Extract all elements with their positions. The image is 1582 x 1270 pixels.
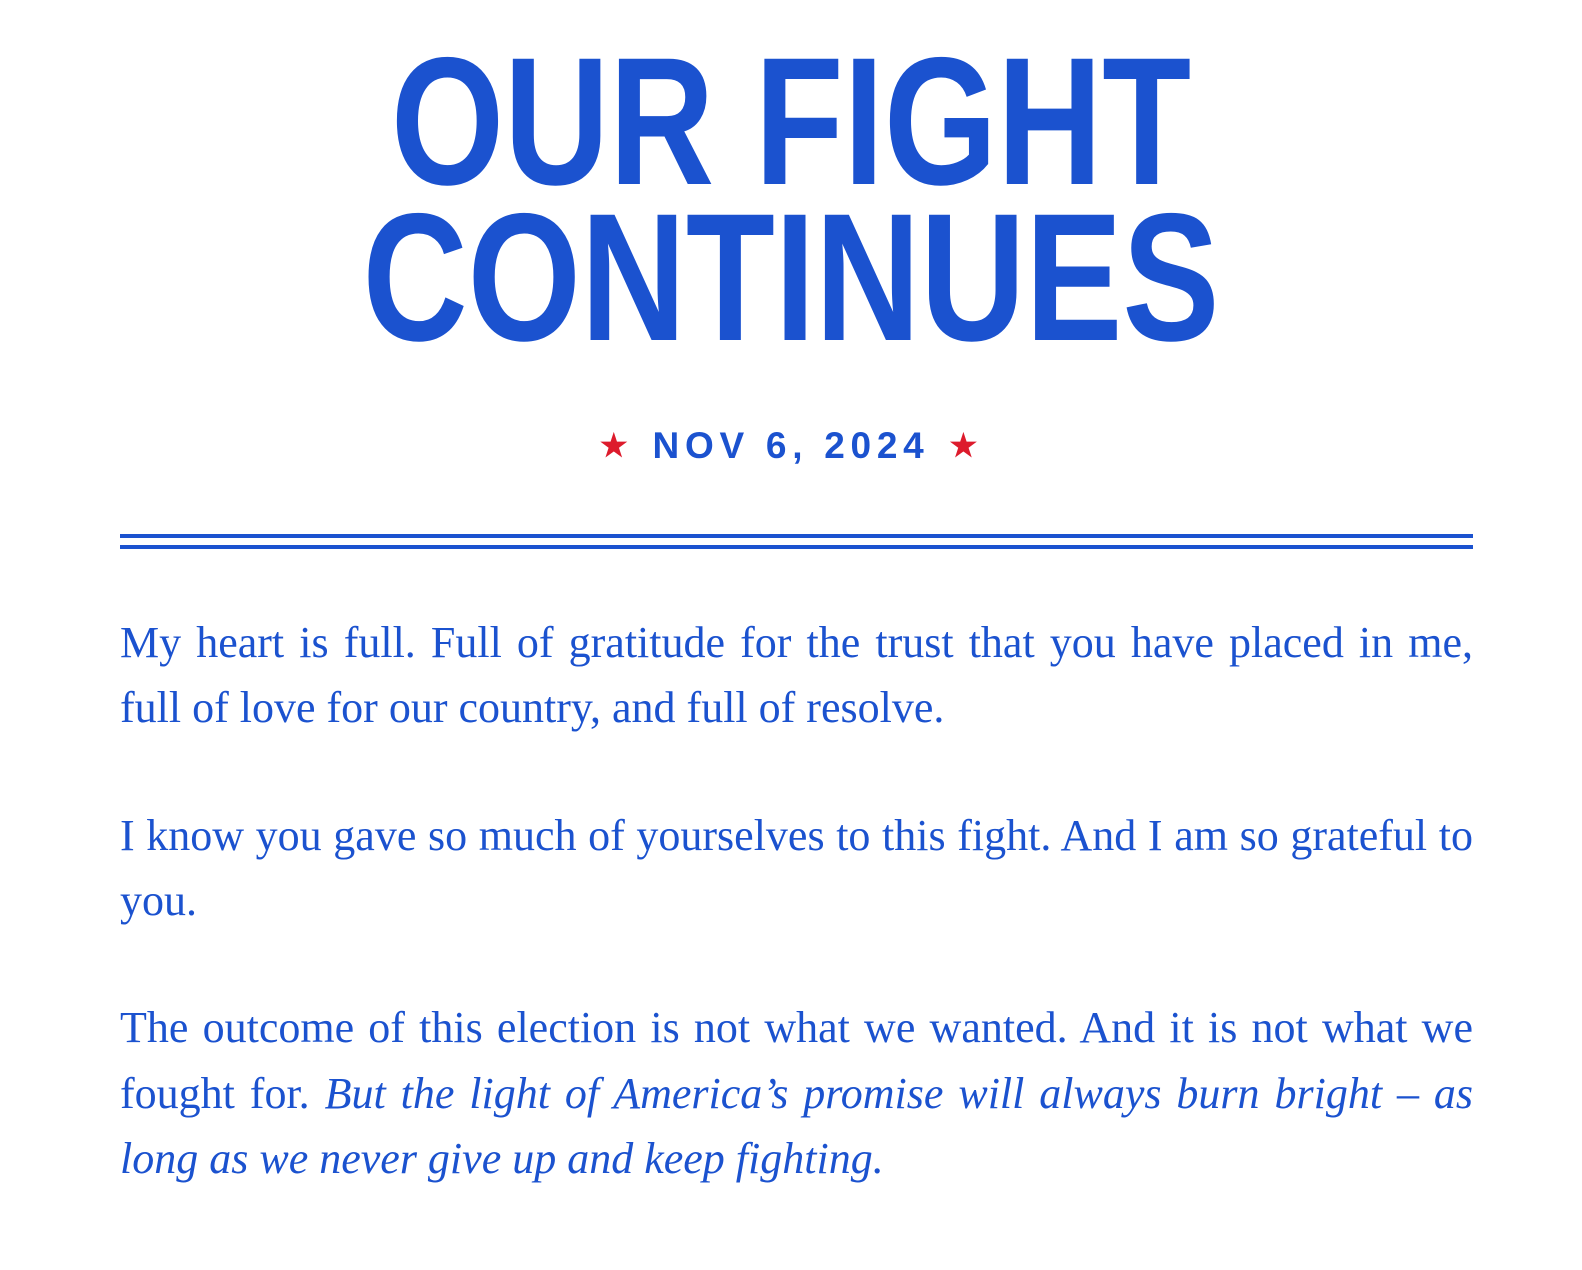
speech-paragraph-1: My heart is full. Full of gratitude for … xyxy=(120,610,1473,741)
star-icon-left: ★ xyxy=(600,428,633,463)
dateline-date: NOV 6, 2024 xyxy=(649,425,934,466)
speech-body: My heart is full. Full of gratitude for … xyxy=(120,610,1473,1191)
speech-paragraph-2: I know you gave so much of yourselves to… xyxy=(120,803,1473,934)
divider-rule-top xyxy=(120,534,1473,538)
star-icon-right: ★ xyxy=(950,428,983,463)
divider-rule-bottom xyxy=(120,545,1473,549)
speech-paragraph-3: The outcome of this election is not what… xyxy=(120,995,1473,1191)
page-title: OUR FIGHT CONTINUES xyxy=(0,44,1582,355)
divider xyxy=(120,534,1473,549)
speech-page: OUR FIGHT CONTINUES ★ NOV 6, 2024 ★ My h… xyxy=(0,0,1582,1270)
page-title-line-2: CONTINUES xyxy=(158,200,1424,356)
dateline: ★ NOV 6, 2024 ★ xyxy=(0,425,1582,467)
